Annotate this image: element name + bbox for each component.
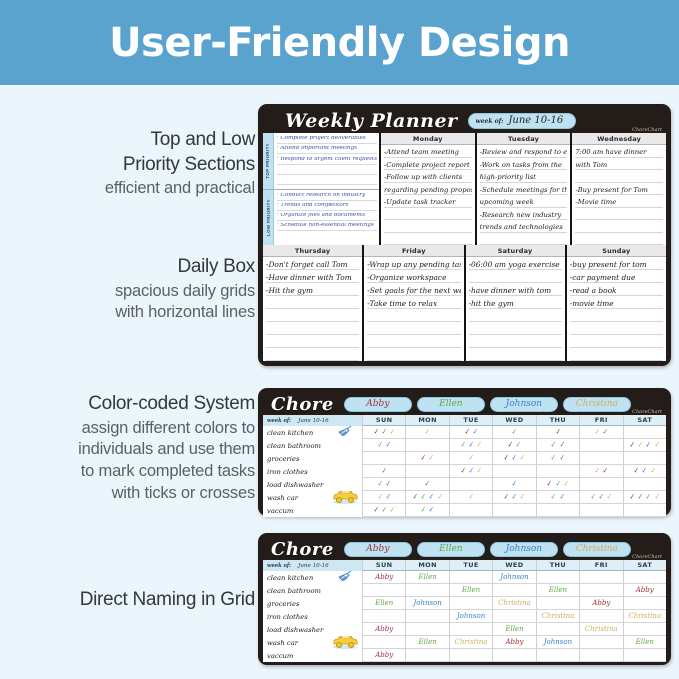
chore-cell[interactable]: ✓	[493, 426, 536, 439]
planner-day-line[interactable]	[469, 348, 562, 361]
planner-day-line[interactable]	[266, 335, 359, 348]
planner-day-line[interactable]: -car payment due	[570, 270, 663, 283]
planner-day-line[interactable]: -Organize workspace	[367, 270, 460, 283]
planner-row-top: TOP PRIORITY· Complete project deliverab…	[263, 133, 666, 245]
check-mark-icon: ✓	[503, 493, 509, 502]
person-pill-christina[interactable]: Christina	[563, 542, 631, 557]
chore-cell[interactable]	[493, 649, 536, 662]
planner-day-line[interactable]	[367, 335, 460, 348]
person-pill-abby[interactable]: Abby	[344, 397, 412, 412]
chore-cell[interactable]	[363, 452, 406, 465]
chore-cell[interactable]: ✓✓✓	[493, 452, 536, 465]
planner-day-line[interactable]	[570, 322, 663, 335]
chore-task-text: load dishwasher	[267, 481, 323, 489]
planner-day-line[interactable]: -Research new industry	[480, 208, 568, 221]
chore-cell[interactable]	[450, 649, 493, 662]
planner-day-line[interactable]: -Work on tasks from the	[480, 158, 568, 171]
check-mark-icon: ✓	[654, 493, 660, 502]
chore-row: iron clothes✓✓✓✓✓✓✓✓✓	[263, 465, 666, 478]
chore-cell[interactable]	[537, 465, 580, 478]
chore-task-text: clean bathroom	[267, 587, 321, 595]
check-mark-icon: ✓	[559, 441, 565, 450]
check-mark-icon: ✓	[551, 493, 557, 502]
check-mark-icon: ✓	[460, 467, 466, 476]
check-mark-icon: ✓	[429, 493, 435, 502]
chore-cell[interactable]: ✓✓	[537, 452, 580, 465]
planner-day-wednesday[interactable]: Wednesday7:00 am have dinnerwith Tom-Buy…	[572, 133, 666, 245]
planner-day-line[interactable]	[367, 348, 460, 361]
check-mark-icon: ✓	[547, 480, 553, 489]
chore-cell[interactable]	[580, 571, 623, 584]
feature-block-priority: Top and LowPriority Sections efficient a…	[10, 128, 255, 200]
chore-task-label: load dishwasher	[263, 623, 363, 636]
chore-header-row: week of:June 10-16SUNMONTUEWEDTHUFRISAT	[263, 560, 666, 571]
chore-day-header-fri: FRI	[580, 560, 623, 570]
chore-row: wash car✓✓✓✓✓✓✓✓✓✓✓✓✓✓✓✓✓✓✓	[263, 491, 666, 504]
chore-cell[interactable]: ✓✓	[406, 452, 449, 465]
person-pill-christina[interactable]: Christina	[563, 397, 631, 412]
chore-cell[interactable]: ✓✓	[537, 439, 580, 452]
planner-day-line[interactable]: -Follow up with clients	[384, 170, 472, 183]
chore-cell[interactable]: ✓✓	[580, 465, 623, 478]
planner-day-line[interactable]: -read a book	[570, 283, 663, 296]
planner-day-line[interactable]	[575, 170, 663, 183]
chore-cell[interactable]	[363, 584, 406, 597]
planner-day-header: Thursday	[263, 245, 362, 257]
page-title: User-Friendly Design	[109, 20, 570, 66]
chore-cell[interactable]: ✓✓✓✓	[624, 491, 666, 504]
chore-cell[interactable]	[580, 504, 623, 517]
chore-cell[interactable]	[624, 478, 666, 491]
chore-cell[interactable]: ✓✓	[406, 504, 449, 517]
page-header: User-Friendly Design	[0, 0, 679, 85]
check-mark-icon: ✓	[646, 441, 652, 450]
chore-cell[interactable]	[537, 597, 580, 610]
chore-cell[interactable]: Ellen	[363, 597, 406, 610]
chore-cell[interactable]	[624, 623, 666, 636]
chore-cell[interactable]	[406, 584, 449, 597]
chore-cell[interactable]	[624, 597, 666, 610]
assignee-name: Christina	[628, 613, 661, 620]
chore-cell[interactable]: ✓✓✓✓	[406, 491, 449, 504]
planner-day-thursday[interactable]: Thursday-Don't forget call Tom-Have dinn…	[263, 245, 364, 361]
chore-cell[interactable]	[624, 571, 666, 584]
person-pill-abby[interactable]: Abby	[344, 542, 412, 557]
assignee-name: Christina	[455, 639, 488, 646]
chore-cell[interactable]	[406, 623, 449, 636]
planner-day-line[interactable]: -have dinner with tom	[469, 283, 562, 296]
chore-task-text: load dishwasher	[267, 626, 323, 634]
chore-cell[interactable]: Abby	[363, 571, 406, 584]
priority-tab-label: LOW PRIORITY	[263, 190, 274, 246]
priority-item-list[interactable]: · Complete project deliverables· Attend …	[274, 133, 379, 189]
chore-cell[interactable]: ✓✓	[363, 491, 406, 504]
chore-day-header-wed: WED	[493, 560, 536, 570]
planner-day-line[interactable]: -Attend team meeting	[384, 145, 472, 158]
check-mark-icon: ✓	[468, 493, 474, 502]
chore-row: groceries✓✓✓✓✓✓✓✓	[263, 452, 666, 465]
chore-row: iron clothesJohnsonChristinaChristina	[263, 610, 666, 623]
check-mark-icon: ✓	[629, 493, 635, 502]
car-icon	[330, 491, 360, 504]
chore-day-header-thu: THU	[537, 415, 580, 425]
planner-day-tuesday[interactable]: Tuesday-Review and respond to emails-Wor…	[477, 133, 573, 245]
check-mark-icon: ✓	[385, 441, 391, 450]
chore-cell[interactable]	[493, 465, 536, 478]
check-mark-icon: ✓	[598, 493, 604, 502]
assignee-name: Abby	[375, 626, 393, 633]
chore-cell[interactable]: Christina	[624, 610, 666, 623]
planner-day-line[interactable]	[469, 322, 562, 335]
planner-day-header: Wednesday	[572, 133, 666, 145]
planner-day-line[interactable]: -Buy present for Tom	[575, 183, 663, 196]
check-mark-icon: ✓	[381, 467, 387, 476]
chore-week-of-cell[interactable]: week of:June 10-16	[263, 415, 363, 426]
planner-day-header: Saturday	[466, 245, 565, 257]
planner-day-line[interactable]: -buy present for tom	[570, 257, 663, 270]
chore-row: vaccum✓✓✓✓✓	[263, 504, 666, 517]
chore-task-label: groceries	[263, 452, 363, 465]
chore-cell[interactable]: ✓✓	[363, 478, 406, 491]
chore-cell[interactable]: Johnson	[450, 610, 493, 623]
check-mark-icon: ✓	[555, 428, 561, 437]
chore-row: wash carEllenChristinaAbbyJohnsonEllen	[263, 636, 666, 649]
planner-day-line[interactable]	[266, 309, 359, 322]
check-mark-icon: ✓	[381, 506, 387, 515]
chore-cell[interactable]: ✓	[406, 478, 449, 491]
person-pill-johnson[interactable]: Johnson	[490, 542, 558, 557]
chore-task-text: vaccum	[267, 507, 293, 515]
chore-row: load dishwasher✓✓✓✓✓✓✓	[263, 478, 666, 491]
chore-cell[interactable]: Johnson	[537, 636, 580, 649]
chore-cell[interactable]: ✓✓	[493, 439, 536, 452]
check-mark-icon: ✓	[468, 454, 474, 463]
chore-task-label: clean bathroom	[263, 439, 363, 452]
check-mark-icon: ✓	[420, 506, 426, 515]
chore-cell[interactable]: Ellen	[406, 636, 449, 649]
assignee-name: Ellen	[375, 600, 393, 607]
assignee-name: Ellen	[505, 626, 523, 633]
priority-item[interactable]: · Conduct research on industry	[277, 193, 377, 201]
planner-day-line[interactable]	[469, 309, 562, 322]
chore-cell[interactable]	[450, 478, 493, 491]
planner-day-line[interactable]	[575, 220, 663, 233]
feature-title: Direct Naming in Grid	[8, 588, 255, 613]
planner-day-monday[interactable]: Monday-Attend team meeting-Complete proj…	[381, 133, 477, 245]
planner-day-line[interactable]: -Update task tracker	[384, 195, 472, 208]
week-of-value: June 10-16	[298, 418, 329, 424]
chore-cell[interactable]	[493, 504, 536, 517]
chore-cell[interactable]	[624, 504, 666, 517]
planner-day-line[interactable]	[266, 322, 359, 335]
chore-cell[interactable]	[406, 439, 449, 452]
chore-cell[interactable]	[406, 610, 449, 623]
check-mark-icon: ✓	[590, 493, 596, 502]
broom-icon	[336, 571, 358, 584]
chore-cell[interactable]	[450, 504, 493, 517]
chore-cell[interactable]: ✓✓✓✓	[624, 439, 666, 452]
chore-cell[interactable]	[537, 623, 580, 636]
planner-day-line[interactable]: -Wrap up any pending task	[367, 257, 460, 270]
planner-day-line[interactable]	[570, 335, 663, 348]
chore-cell[interactable]	[537, 504, 580, 517]
planner-day-line[interactable]: -Schedule meetings for the	[480, 183, 568, 196]
planner-day-line[interactable]: regarding pending proposals	[384, 183, 472, 196]
chore-cell[interactable]: Ellen	[537, 584, 580, 597]
planner-day-lines[interactable]: 7:00 am have dinnerwith Tom-Buy present …	[572, 145, 666, 245]
priority-item[interactable]: · Attend important meetings	[277, 146, 377, 154]
check-mark-icon: ✓	[377, 493, 383, 502]
planner-day-lines[interactable]: -Wrap up any pending task-Organize works…	[364, 257, 463, 361]
chore-day-header-mon: MON	[406, 415, 449, 425]
assignee-name: Abby	[375, 652, 393, 659]
planner-day-line[interactable]	[575, 208, 663, 221]
planner-day-line[interactable]	[367, 309, 460, 322]
planner-day-header: Friday	[364, 245, 463, 257]
chore-cell[interactable]: ✓	[406, 426, 449, 439]
chore-cell[interactable]: ✓✓✓	[493, 491, 536, 504]
car-icon	[330, 636, 360, 649]
check-mark-icon: ✓	[511, 454, 517, 463]
planner-day-sunday[interactable]: Sunday-buy present for tom-car payment d…	[567, 245, 666, 361]
chore-cell[interactable]: Ellen	[493, 623, 536, 636]
chore-row: vaccumAbby	[263, 649, 666, 662]
planner-week-of-field[interactable]: week of: June 10-16	[468, 113, 577, 129]
chore-cell[interactable]: Abby	[580, 597, 623, 610]
chore-cell[interactable]: ✓✓✓	[580, 491, 623, 504]
planner-day-line[interactable]: -Take time to relax	[367, 296, 460, 309]
chore-cell[interactable]: ✓✓✓	[450, 465, 493, 478]
chore-cell[interactable]	[450, 571, 493, 584]
chore-task-text: clean kitchen	[267, 574, 313, 582]
check-mark-icon: ✓	[594, 467, 600, 476]
assignee-name: Abby	[505, 639, 523, 646]
planner-day-line[interactable]	[480, 233, 568, 246]
feature-subtitle: efficient and practical	[10, 178, 255, 200]
chore-cell[interactable]	[537, 649, 580, 662]
chore-cell[interactable]: Johnson	[406, 597, 449, 610]
chore-cell[interactable]	[580, 478, 623, 491]
planner-day-line[interactable]: -hit the gym	[469, 296, 562, 309]
chore-header-row: week of:June 10-16SUNMONTUEWEDTHUFRISAT	[263, 415, 666, 426]
chore-cell[interactable]	[450, 623, 493, 636]
priority-item[interactable]: · Trends and competitors	[277, 203, 377, 211]
chore-week-of-cell[interactable]: week of:June 10-16	[263, 560, 363, 571]
planner-day-lines[interactable]: -buy present for tom-car payment due-rea…	[567, 257, 666, 361]
feature-title: Daily Box	[10, 255, 255, 280]
planner-day-line[interactable]: trends and technologies	[480, 220, 568, 233]
brand-logo: ChoreChart	[632, 127, 662, 133]
planner-day-line[interactable]	[575, 233, 663, 246]
planner-day-line[interactable]: upcoming week	[480, 195, 568, 208]
chore-cell[interactable]	[580, 439, 623, 452]
check-mark-icon: ✓	[629, 441, 635, 450]
chore-cell[interactable]	[580, 610, 623, 623]
chore-cell[interactable]	[580, 636, 623, 649]
chore-cell[interactable]	[537, 571, 580, 584]
planner-day-friday[interactable]: Friday-Wrap up any pending task-Organize…	[364, 245, 465, 361]
check-mark-icon: ✓	[646, 493, 652, 502]
chore-cell[interactable]: Ellen	[450, 584, 493, 597]
check-mark-icon: ✓	[642, 467, 648, 476]
planner-day-line[interactable]	[266, 296, 359, 309]
priority-item[interactable]: · Organize files and documents	[277, 213, 377, 221]
chore-cell[interactable]: Abby	[493, 636, 536, 649]
chore-task-text: groceries	[267, 600, 299, 608]
chore-cell[interactable]: ✓✓✓	[537, 478, 580, 491]
priority-item[interactable]: · Respond to urgent client requests	[277, 157, 377, 165]
check-mark-icon: ✓	[472, 428, 478, 437]
chore-cell[interactable]: Christina	[537, 610, 580, 623]
chore-cell[interactable]: ✓	[493, 478, 536, 491]
planner-day-line[interactable]: -Hit the gym	[266, 283, 359, 296]
check-mark-icon: ✓	[385, 480, 391, 489]
chore-task-text: vaccum	[267, 652, 293, 660]
chore-cell[interactable]: Ellen	[624, 636, 666, 649]
chore-cell[interactable]	[450, 597, 493, 610]
chore-cell[interactable]	[406, 649, 449, 662]
planner-day-line[interactable]: 7:00 am have dinner	[575, 145, 663, 158]
chore-cell[interactable]: Abby	[363, 623, 406, 636]
chore-cell[interactable]: Christina	[493, 597, 536, 610]
planner-day-line[interactable]: -Complete project report	[384, 158, 472, 171]
chore-cell[interactable]	[406, 465, 449, 478]
chore-cell[interactable]: Christina	[450, 636, 493, 649]
chore-task-text: clean bathroom	[267, 442, 321, 450]
chore-cell[interactable]: ✓	[363, 465, 406, 478]
check-mark-icon: ✓	[602, 428, 608, 437]
priority-column: TOP PRIORITY· Complete project deliverab…	[263, 133, 381, 245]
check-mark-icon: ✓	[476, 441, 482, 450]
chore-cell[interactable]	[580, 584, 623, 597]
person-pill-ellen[interactable]: Ellen	[417, 542, 485, 557]
chore-cell[interactable]: Johnson	[493, 571, 536, 584]
planner-day-line[interactable]	[384, 220, 472, 233]
planner-day-line[interactable]	[384, 208, 472, 221]
chore-cell[interactable]: ✓✓✓	[363, 504, 406, 517]
planner-day-lines[interactable]: -06:00 am yoga exercise-have dinner with…	[466, 257, 565, 361]
chore-cell[interactable]: ✓✓✓	[624, 465, 666, 478]
planner-day-line[interactable]	[367, 322, 460, 335]
chore-cell[interactable]: ✓✓✓	[363, 426, 406, 439]
person-pill-ellen[interactable]: Ellen	[417, 397, 485, 412]
planner-day-line[interactable]	[469, 335, 562, 348]
planner-day-header: Monday	[381, 133, 475, 145]
assignee-name: Abby	[636, 587, 654, 594]
check-mark-icon: ✓	[555, 480, 561, 489]
chore-cell[interactable]: ✓✓	[363, 439, 406, 452]
chore-row: groceriesEllenJohnsonChristinaAbby	[263, 597, 666, 610]
planner-day-line[interactable]: -Review and respond to emails	[480, 145, 568, 158]
brand-logo: ChoreChart	[632, 409, 662, 415]
planner-day-line[interactable]	[469, 270, 562, 283]
chore-day-header-mon: MON	[406, 560, 449, 570]
priority-item-empty[interactable]	[277, 167, 377, 175]
planner-day-saturday[interactable]: Saturday-06:00 am yoga exercise-have din…	[466, 245, 567, 361]
chore-task-label: clean bathroom	[263, 584, 363, 597]
priority-section-low: LOW PRIORITY· Conduct research on indust…	[263, 189, 379, 246]
planner-day-lines[interactable]: -Attend team meeting-Complete project re…	[381, 145, 475, 245]
chore-cell[interactable]: ✓	[537, 426, 580, 439]
assignee-name: Johnson	[544, 639, 572, 646]
planner-day-line[interactable]: -Have dinner with Tom	[266, 270, 359, 283]
assignee-name: Abby	[375, 574, 393, 581]
planner-grid: TOP PRIORITY· Complete project deliverab…	[263, 133, 666, 361]
priority-item[interactable]: · Complete project deliverables	[277, 136, 377, 144]
check-mark-icon: ✓	[515, 441, 521, 450]
planner-day-line[interactable]: high-priority list	[480, 170, 568, 183]
chore-cell[interactable]: ✓✓	[580, 426, 623, 439]
check-mark-icon: ✓	[559, 454, 565, 463]
chore-cell[interactable]	[493, 584, 536, 597]
chore-cell[interactable]	[624, 452, 666, 465]
planner-day-line[interactable]	[384, 233, 472, 246]
planner-day-line[interactable]: -Set goals for the next week	[367, 283, 460, 296]
chore-cell[interactable]: Abby	[624, 584, 666, 597]
check-mark-icon: ✓	[633, 467, 639, 476]
chore-cell[interactable]: ✓	[450, 491, 493, 504]
planner-day-header: Sunday	[567, 245, 666, 257]
assignee-name: Ellen	[419, 639, 437, 646]
assignee-name: Abby	[592, 600, 610, 607]
check-mark-icon: ✓	[476, 467, 482, 476]
chore-cell[interactable]: Abby	[363, 649, 406, 662]
chore-row: clean kitchen✓✓✓✓✓✓✓✓✓✓	[263, 426, 666, 439]
chore-cell[interactable]: ✓✓	[537, 491, 580, 504]
chore-cell[interactable]: ✓	[450, 452, 493, 465]
planner-day-line[interactable]: -movie time	[570, 296, 663, 309]
check-mark-icon: ✓	[563, 480, 569, 489]
priority-item-list[interactable]: · Conduct research on industry· Trends a…	[274, 190, 379, 246]
person-pill-johnson[interactable]: Johnson	[490, 397, 558, 412]
check-mark-icon: ✓	[606, 493, 612, 502]
planner-day-line[interactable]: -Movie time	[575, 195, 663, 208]
planner-row-bottom: Thursday-Don't forget call Tom-Have dinn…	[263, 245, 666, 361]
priority-item-empty[interactable]	[277, 177, 377, 185]
check-mark-icon: ✓	[637, 441, 643, 450]
chore-cell[interactable]: Ellen	[406, 571, 449, 584]
chore-cell[interactable]	[363, 610, 406, 623]
check-mark-icon: ✓	[637, 493, 643, 502]
planner-day-lines[interactable]: -Review and respond to emails-Work on ta…	[477, 145, 571, 245]
priority-item[interactable]: · Schedule non-essential meetings	[277, 223, 377, 231]
chore-day-header-fri: FRI	[580, 415, 623, 425]
planner-day-line[interactable]: -06:00 am yoga exercise	[469, 257, 562, 270]
chore-cell[interactable]	[624, 649, 666, 662]
chore-cell[interactable]	[363, 636, 406, 649]
chore-cell[interactable]	[493, 610, 536, 623]
planner-day-line[interactable]	[570, 348, 663, 361]
chore-cell[interactable]: Christina	[580, 623, 623, 636]
check-mark-icon: ✓	[420, 493, 426, 502]
planner-day-line[interactable]: -Don't forget call Tom	[266, 257, 359, 270]
planner-day-line[interactable]	[266, 348, 359, 361]
check-mark-icon: ✓	[551, 454, 557, 463]
planner-day-lines[interactable]: -Don't forget call Tom-Have dinner with …	[263, 257, 362, 361]
chore-cell[interactable]	[580, 452, 623, 465]
chore-cell[interactable]	[580, 649, 623, 662]
chore-cell[interactable]: ✓✓	[450, 426, 493, 439]
check-mark-icon: ✓	[437, 493, 443, 502]
check-mark-icon: ✓	[377, 441, 383, 450]
chore-cell[interactable]	[624, 426, 666, 439]
planner-day-line[interactable]: with Tom	[575, 158, 663, 171]
assignee-name: Christina	[498, 600, 531, 607]
chore-task-label: load dishwasher	[263, 478, 363, 491]
check-mark-icon: ✓	[503, 454, 509, 463]
planner-day-line[interactable]	[570, 309, 663, 322]
chore-cell[interactable]: ✓✓✓	[450, 439, 493, 452]
